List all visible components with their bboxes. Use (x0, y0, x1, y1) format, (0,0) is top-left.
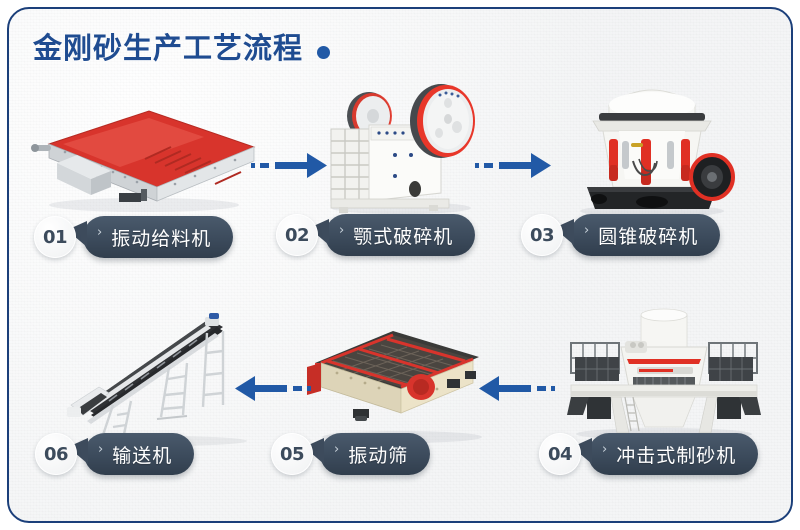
step-label-text-01: 振动给料机 (111, 224, 211, 251)
impact-sand-maker-icon (549, 301, 779, 441)
step-label-text-05: 振动筛 (348, 441, 408, 468)
step-label-01[interactable]: 01 › 振动给料机 (34, 215, 233, 259)
step-number-badge-05: 05 (271, 433, 313, 475)
vibrating-feeder-icon (19, 89, 264, 214)
step-pill-01[interactable]: › 振动给料机 (83, 216, 233, 258)
step-pill-06[interactable]: › 输送机 (84, 433, 194, 475)
flowchart-canvas: 金刚砂生产工艺流程 (0, 0, 800, 530)
step-label-02[interactable]: 02 › 颚式破碎机 (276, 213, 475, 257)
chevron-right-icon: › (97, 226, 102, 239)
chevron-right-icon: › (98, 443, 103, 456)
step-number-badge-06: 06 (35, 433, 77, 475)
step-number-badge-01: 01 (34, 216, 76, 258)
chevron-right-icon: › (602, 443, 607, 456)
step-pill-05[interactable]: › 振动筛 (320, 433, 430, 475)
diagram-frame: 金刚砂生产工艺流程 (7, 7, 793, 523)
step-pill-04[interactable]: › 冲击式制砂机 (588, 433, 758, 475)
arrow-05-to-06 (231, 374, 311, 409)
step-label-text-04: 冲击式制砂机 (616, 441, 736, 468)
vibrating-screen-icon (297, 317, 502, 445)
step-label-text-03: 圆锥破碎机 (598, 222, 698, 249)
chevron-right-icon: › (339, 224, 344, 237)
step-label-text-06: 输送机 (112, 441, 172, 468)
jaw-crusher-icon (309, 71, 489, 216)
step-label-05[interactable]: 05 › 振动筛 (271, 432, 430, 476)
blue-dot-icon (317, 46, 330, 59)
arrow-02-to-03 (475, 151, 555, 186)
arrow-04-to-05 (475, 374, 555, 409)
chevron-right-icon: › (584, 224, 589, 237)
step-number-badge-04: 04 (539, 433, 581, 475)
step-pill-02[interactable]: › 颚式破碎机 (325, 214, 475, 256)
step-pill-03[interactable]: › 圆锥破碎机 (570, 214, 720, 256)
arrow-01-to-02 (251, 151, 331, 186)
page-title-text: 金刚砂生产工艺流程 (33, 35, 303, 64)
page-title: 金刚砂生产工艺流程 (33, 35, 330, 64)
step-number-badge-02: 02 (276, 214, 318, 256)
step-number-badge-03: 03 (521, 214, 563, 256)
cone-crusher-icon (557, 69, 747, 219)
step-label-06[interactable]: 06 › 输送机 (35, 432, 194, 476)
step-label-text-02: 颚式破碎机 (353, 222, 453, 249)
step-label-03[interactable]: 03 › 圆锥破碎机 (521, 213, 720, 257)
step-label-04[interactable]: 04 › 冲击式制砂机 (539, 432, 758, 476)
chevron-right-icon: › (334, 443, 339, 456)
